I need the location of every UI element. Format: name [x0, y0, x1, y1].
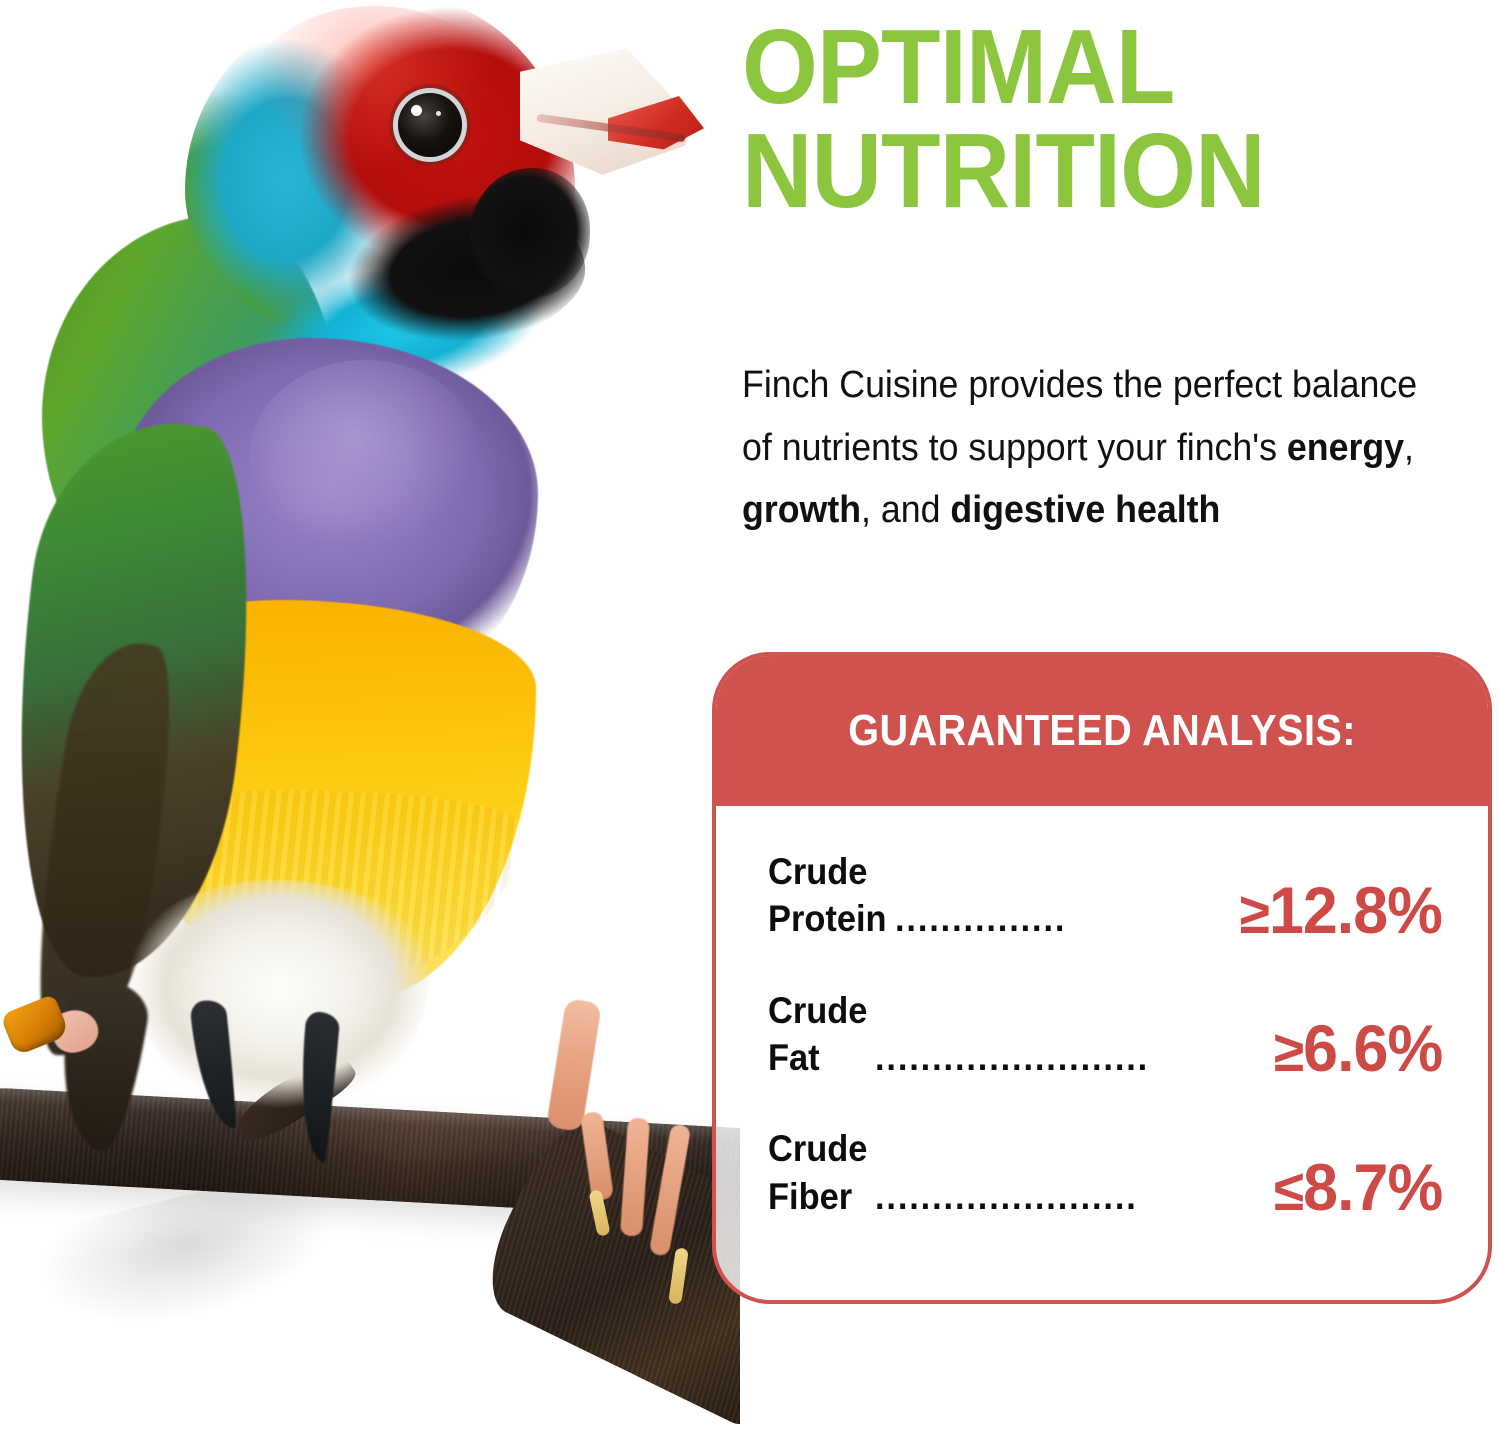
nutrient-row-crude-protein: Crude Protein ............... ≥12.8% — [768, 848, 1442, 943]
blurb-bold-digestive-health: digestive health — [950, 489, 1220, 531]
nutrient-row-crude-fiber: Crude Fiber ....................... ≤8.7… — [768, 1125, 1442, 1220]
product-description: Finch Cuisine provides the perfect balan… — [742, 354, 1438, 542]
blurb-bold-energy: energy — [1287, 427, 1404, 469]
nutrient-label-crude-fiber: Crude Fiber — [768, 1125, 867, 1220]
nutrient-label-crude-fat: Crude Fat — [768, 987, 867, 1082]
nutrient-number-crude-protein: 12.8% — [1269, 873, 1442, 947]
nutrient-row-crude-fat: Crude Fat ........................ ≥6.6% — [768, 987, 1442, 1082]
bird-toe-3 — [649, 1123, 692, 1256]
bird-photo — [0, 0, 740, 1429]
bird-vent-white — [130, 880, 430, 1120]
bird-eye — [398, 93, 462, 157]
bird-toe-1 — [580, 1111, 614, 1201]
guaranteed-analysis-header: GUARANTEED ANALYSIS: — [716, 656, 1488, 806]
nutrient-label-crude-protein: Crude Protein — [768, 848, 887, 943]
nutrient-value-crude-protein: ≥12.8% — [1240, 877, 1442, 943]
nutrient-leader-crude-fat: ........................ — [875, 1034, 1238, 1081]
bird-head-sheen — [250, 6, 500, 176]
bird-claw-2 — [668, 1247, 689, 1304]
guaranteed-analysis-body: Crude Protein ............... ≥12.8% Cru… — [716, 806, 1488, 1220]
blurb-sep-2: , and — [861, 489, 950, 531]
nutrient-leader-crude-protein: ............... — [895, 895, 1205, 942]
nutrient-operator-crude-fat: ≥ — [1274, 1019, 1303, 1084]
nutrient-value-crude-fiber: ≤8.7% — [1274, 1154, 1442, 1220]
bird-black-chin — [470, 168, 590, 298]
bird-toe-2 — [620, 1117, 650, 1236]
guaranteed-analysis-card: GUARANTEED ANALYSIS: Crude Protein .....… — [712, 652, 1492, 1304]
product-infographic: OPTIMAL NUTRITION Finch Cuisine provides… — [0, 0, 1500, 1429]
nutrient-leader-crude-fiber: ....................... — [875, 1173, 1238, 1220]
nutrient-number-crude-fat: 6.6% — [1303, 1011, 1442, 1085]
headline-line-1: OPTIMAL — [742, 16, 1423, 120]
nutrient-number-crude-fiber: 8.7% — [1303, 1150, 1442, 1224]
bird-breast-sheen — [250, 360, 480, 550]
blurb-bold-growth: growth — [742, 489, 861, 531]
blurb-sep-1: , — [1404, 427, 1414, 469]
guaranteed-analysis-title: GUARANTEED ANALYSIS: — [848, 706, 1356, 756]
page-title: OPTIMAL NUTRITION — [742, 16, 1423, 224]
headline-line-2: NUTRITION — [742, 120, 1423, 224]
nutrient-operator-crude-fiber: ≤ — [1274, 1158, 1303, 1223]
gouldian-finch — [0, 0, 740, 1429]
nutrient-operator-crude-protein: ≥ — [1240, 881, 1269, 946]
nutrient-value-crude-fat: ≥6.6% — [1274, 1015, 1442, 1081]
